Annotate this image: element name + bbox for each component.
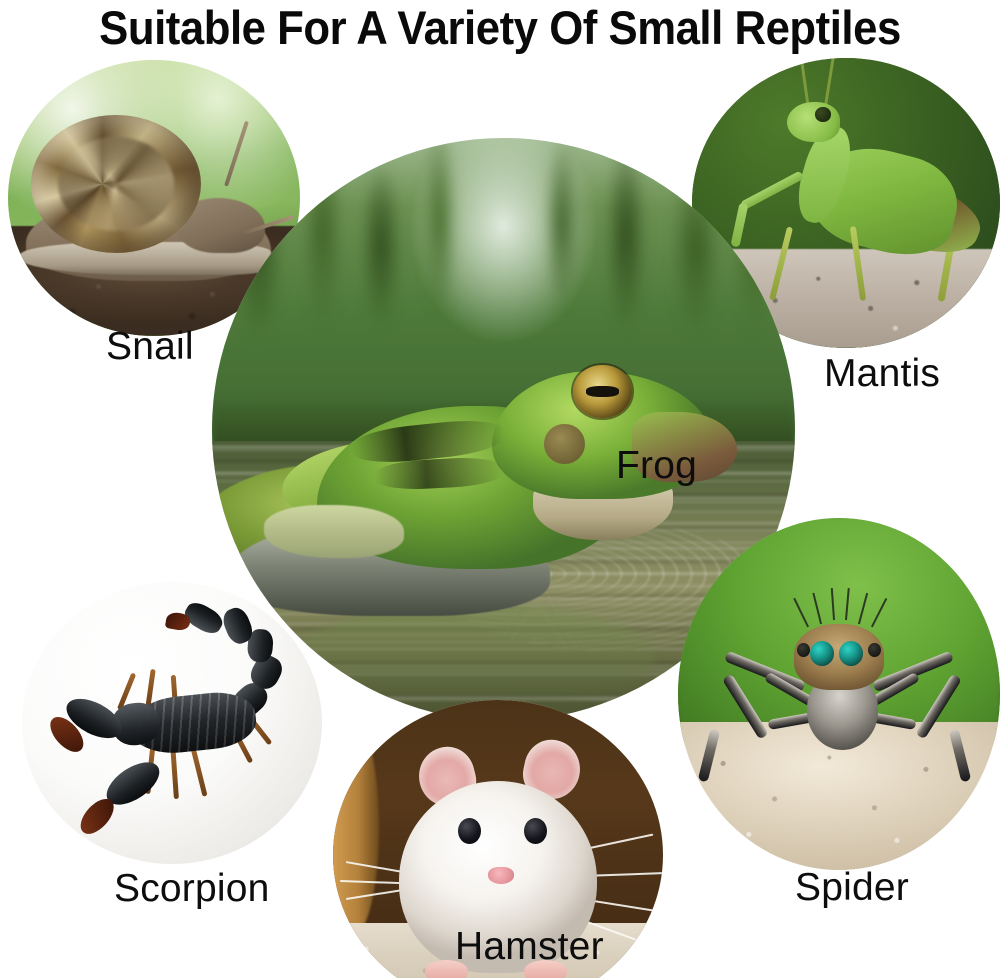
creature-label-hamster: Hamster	[455, 925, 604, 969]
creature-label-scorpion: Scorpion	[114, 867, 270, 911]
creature-label-frog: Frog	[616, 444, 697, 488]
frog-reflection	[294, 604, 655, 709]
frog-front-foot	[264, 505, 404, 557]
page-title: Suitable For A Variety Of Small Reptiles	[35, 2, 965, 54]
creature-label-mantis: Mantis	[824, 352, 940, 396]
creature-label-snail: Snail	[106, 325, 194, 369]
product-feature-graphic: Suitable For A Variety Of Small Reptiles	[0, 0, 1000, 978]
scorpion-pincers	[22, 582, 322, 864]
frog-eye	[573, 365, 631, 417]
creature-photo-scorpion	[22, 582, 322, 864]
creature-label-spider: Spider	[795, 866, 909, 910]
spider-eyes	[678, 518, 1000, 870]
creature-photo-spider	[678, 518, 1000, 870]
